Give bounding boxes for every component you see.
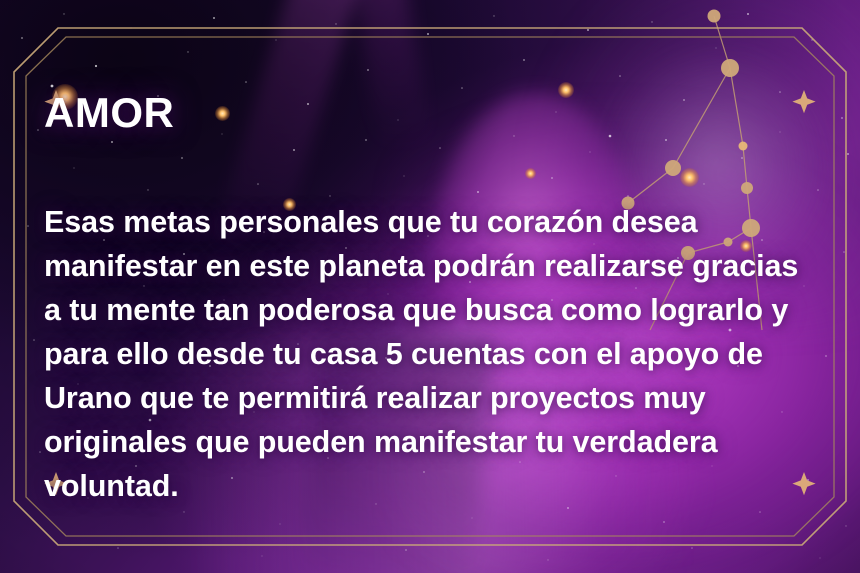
card-content: AMOR Esas metas personales que tu corazó… — [44, 92, 820, 508]
page-title: AMOR — [44, 92, 820, 134]
card-body-text: Esas metas personales que tu corazón des… — [44, 200, 820, 508]
horoscope-card: AMOR Esas metas personales que tu corazó… — [0, 0, 860, 573]
